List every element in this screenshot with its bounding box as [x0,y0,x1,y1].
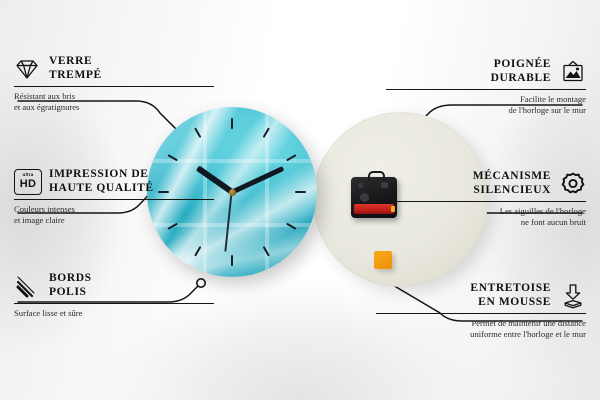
feature-title-line2: TREMPÉ [49,69,102,81]
feature-desc-line2: et aux égratignures [14,102,79,112]
feature-title-line2: DURABLE [491,72,551,84]
feature-divider [386,89,586,90]
mechanism-detail-dot [360,193,369,202]
feature-title-line1: VERRE [49,55,92,67]
mechanism-detail-dot [358,183,363,188]
feature-title-line2: EN MOUSSE [478,296,551,308]
foam-spacer [374,251,392,269]
feature-poignee-durable: POIGNÉE DURABLE Facilite le montage de l… [386,58,586,115]
feature-verre-trempe: VERRE TREMPÉ Résistant aux bris et aux é… [14,55,214,112]
diagonal-lines-icon [14,273,40,299]
feature-desc-line2: de l'horloge sur le mur [509,105,586,115]
feature-desc-line1: Permet de maintenir une distance [471,318,586,328]
feature-desc-line1: Résistant aux bris [14,91,75,101]
feature-entretoise-en-mousse: ENTRETOISE EN MOUSSE Permet de maintenir… [376,282,586,339]
ultra-hd-badge-main: HD [20,179,37,190]
feature-title-line2: POLIS [49,286,87,298]
feature-title-line2: SILENCIEUX [473,184,551,196]
feature-desc-line2: ne font aucun bruit [521,217,586,227]
feature-divider [376,313,586,314]
feature-divider [14,303,214,304]
feature-impression-haute-qualite: ultra HD IMPRESSION DE HAUTE QUALITÉ Cou… [14,168,214,225]
feature-desc-line2: uniforme entre l'horloge et le mur [470,329,586,339]
feature-desc-line1: Surface lisse et sûre [14,308,83,318]
feature-desc-line1: Facilite le montage [520,94,586,104]
feature-desc-line1: Les aiguilles de l'horloge [500,206,586,216]
feature-title-line1: POIGNÉE [494,58,551,70]
infographic-canvas: VERRE TREMPÉ Résistant aux bris et aux é… [0,0,600,400]
feature-title-line1: IMPRESSION DE [49,168,149,180]
gear-icon [560,171,586,197]
ultra-hd-icon: ultra HD [14,169,40,195]
down-arrow-pad-icon [560,283,586,309]
mechanism-hanger [368,171,385,181]
feature-divider [14,86,214,87]
feature-title-line1: MÉCANISME [473,170,551,182]
feature-title-line2: HAUTE QUALITÉ [49,182,154,194]
feature-bords-polis: BORDS POLIS Surface lisse et sûre [14,272,214,319]
feature-desc-line2: et image claire [14,215,65,225]
feature-mecanisme-silencieux: MÉCANISME SILENCIEUX Les aiguilles de l'… [386,170,586,227]
feature-desc-line1: Couleurs intenses [14,204,75,214]
clock-hands-hub [229,189,236,196]
feature-title-line1: ENTRETOISE [470,282,551,294]
feature-divider [386,201,586,202]
feature-title-line1: BORDS [49,272,92,284]
framed-picture-hanger-icon [560,59,586,85]
diamond-icon [14,56,40,82]
feature-divider [14,199,214,200]
